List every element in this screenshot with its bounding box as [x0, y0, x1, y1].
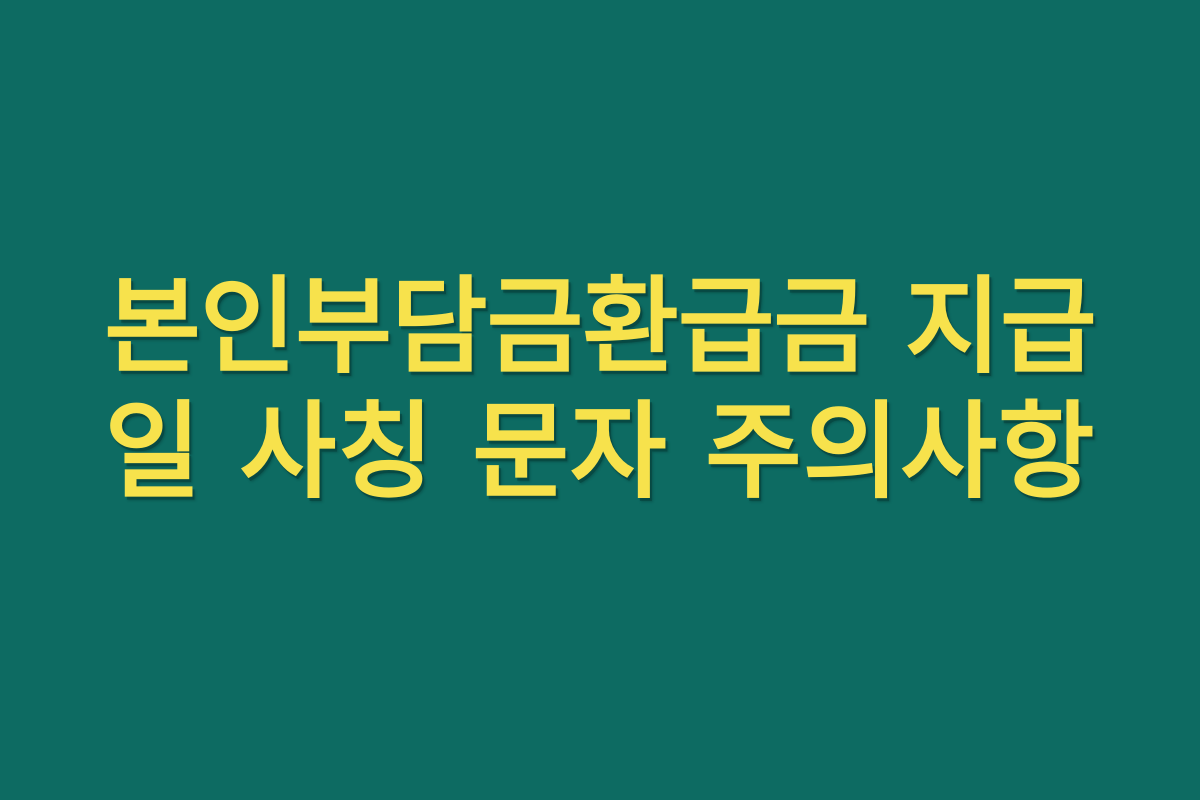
headline-line-2: 일 사칭 문자 주의사항	[95, 390, 1105, 515]
headline-line-1: 본인부담금환급금 지급	[95, 265, 1105, 390]
banner-background: 본인부담금환급금 지급 일 사칭 문자 주의사항	[0, 0, 1200, 800]
headline-text: 본인부담금환급금 지급 일 사칭 문자 주의사항	[95, 265, 1105, 515]
